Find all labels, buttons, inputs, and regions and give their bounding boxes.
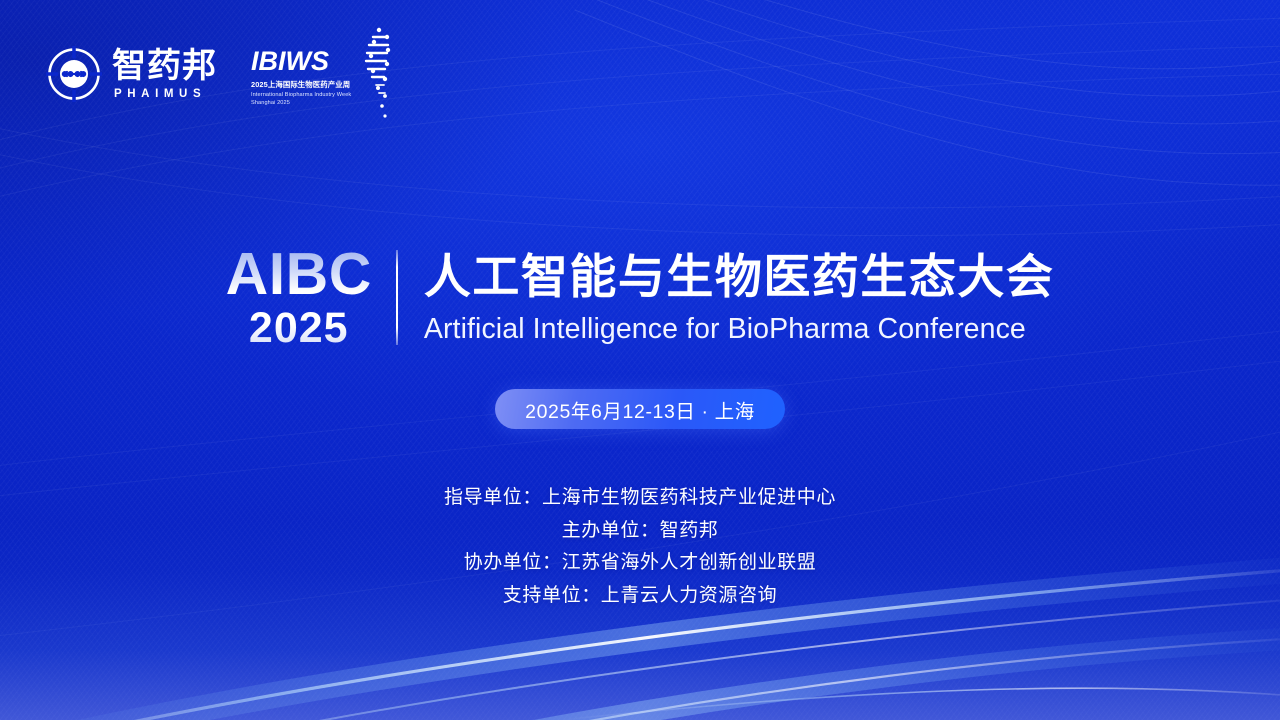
ibiws-title: IBIWS <box>251 48 351 75</box>
organizer-line-guidance: 指导单位：上海市生物医药科技产业促进中心 <box>444 486 836 511</box>
phaimus-name-en: PHAIMUS <box>112 88 217 100</box>
phaimus-name-cn: 智药邦 <box>112 49 217 83</box>
conference-year: 2025 <box>249 306 349 351</box>
ibiws-subtitle-cn: 2025上海国际生物医药产业周 <box>251 79 351 90</box>
ibiws-subtitle-en-line2: Shanghai 2025 <box>251 100 351 106</box>
organizer-line-host: 主办单位：智药邦 <box>562 519 719 544</box>
dna-helix-icon <box>354 26 398 122</box>
conference-title-cn: 人工智能与生物医药生态大会 <box>424 251 1055 306</box>
conference-banner: 智药邦 PHAIMUS IBIWS 2025上海国际生物医药产业周 Intern… <box>0 0 1280 720</box>
phaimus-logo[interactable]: 智药邦 PHAIMUS <box>46 46 217 102</box>
phaimus-wordmark: 智药邦 PHAIMUS <box>112 49 217 100</box>
ibiws-logo[interactable]: IBIWS 2025上海国际生物医药产业周 International Biop… <box>251 26 398 122</box>
date-location-badge: 2025年6月12-13日 · 上海 <box>495 389 785 429</box>
conference-title-en: Artificial Intelligence for BioPharma Co… <box>424 313 1055 346</box>
date-badge-wrapper: 2025年6月12-13日 · 上海 <box>0 389 1280 429</box>
organizer-list: 指导单位：上海市生物医药科技产业促进中心 主办单位：智药邦 协办单位：江苏省海外… <box>0 486 1280 609</box>
logo-bar: 智药邦 PHAIMUS IBIWS 2025上海国际生物医药产业周 Intern… <box>46 26 398 122</box>
target-molecule-icon <box>46 46 102 102</box>
conference-acronym: AIBC <box>226 246 372 304</box>
ibiws-subtitle-en-line1: International Biopharma Industry Week <box>251 92 351 98</box>
ibiws-wordmark: IBIWS 2025上海国际生物医药产业周 International Biop… <box>251 26 351 106</box>
acronym-column: AIBC 2025 <box>226 246 396 351</box>
hero-title-block: AIBC 2025 人工智能与生物医药生态大会 Artificial Intel… <box>0 246 1280 351</box>
organizer-line-coorganizer: 协办单位：江苏省海外人才创新创业联盟 <box>464 551 817 576</box>
organizer-line-supporter: 支持单位：上青云人力资源咨询 <box>503 584 777 609</box>
heading-column: 人工智能与生物医药生态大会 Artificial Intelligence fo… <box>398 246 1055 351</box>
